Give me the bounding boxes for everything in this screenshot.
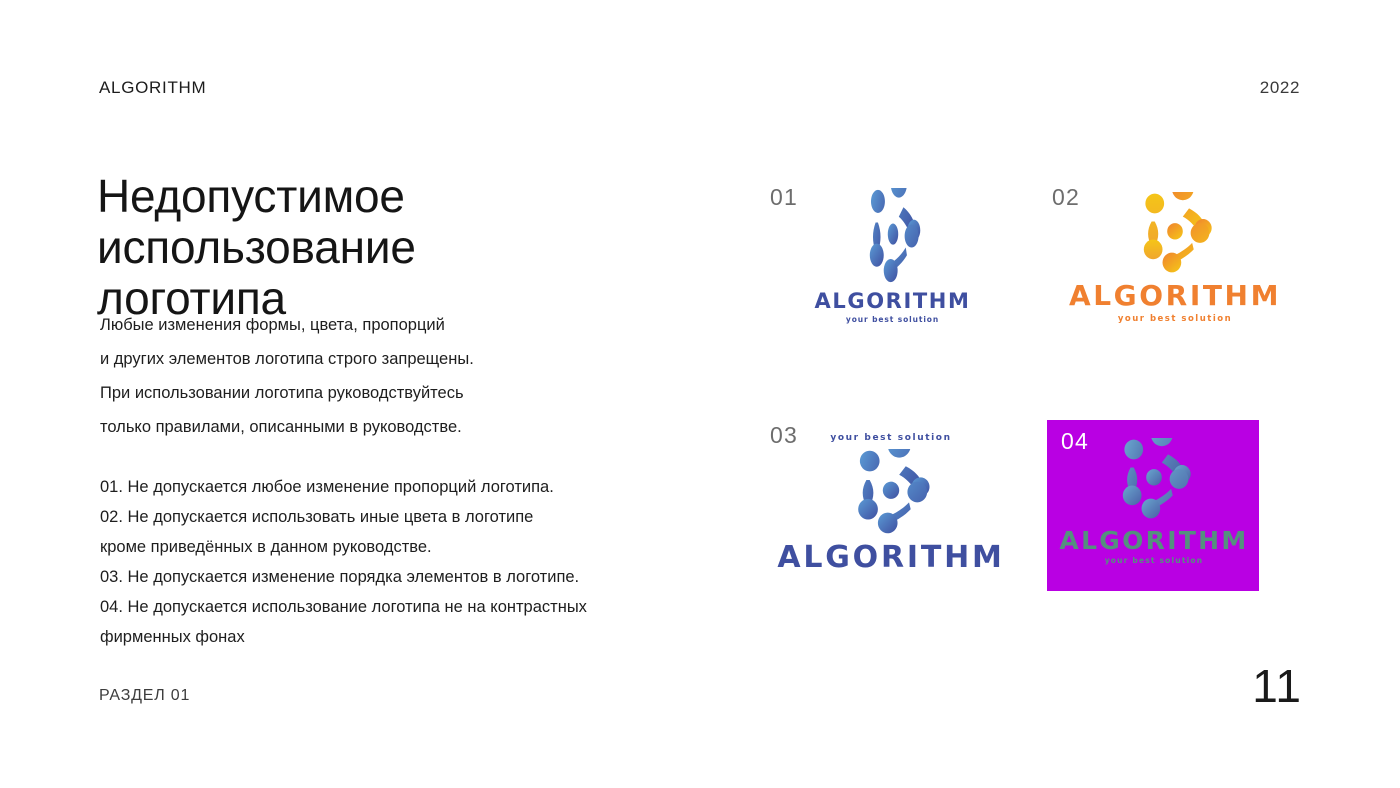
brand-wordmark-header: ALGORITHM (99, 78, 206, 98)
logo-tagline-01: your best solution (846, 316, 939, 324)
specimen-index-01: 01 (770, 184, 798, 211)
logo-lockup-01: ALGORITHM your best solution (815, 188, 970, 324)
specimen-03: 03 your best solution (765, 416, 1015, 616)
specimen-index-03: 03 (770, 422, 798, 449)
logo-lockup-04: ALGORITHM your best solution (1069, 438, 1239, 565)
page-title: Недопустимое использование логотипа (97, 171, 717, 325)
specimen-01: 01 (765, 178, 1015, 378)
logo-specimen-grid: 01 (765, 178, 1305, 608)
logo-wordmark-03: ALGORITHM (777, 543, 1004, 573)
rules-list: 01. Не допускается любое изменение пропо… (100, 472, 760, 652)
logo-tagline-02: your best solution (1118, 315, 1232, 324)
specimen-04: 04 (1047, 416, 1297, 616)
logo-lockup-03: your best solution (785, 434, 997, 573)
logo-wordmark-04: ALGORITHM (1059, 528, 1248, 553)
logo-wordmark-02: ALGORITHM (1069, 282, 1281, 310)
algorithm-node-mark-icon (850, 449, 932, 535)
slide: ALGORITHM 2022 Недопустимое использовани… (0, 0, 1400, 788)
page-number: 11 (1252, 663, 1302, 709)
logo-lockup-02: ALGORITHM your best solution (1075, 192, 1275, 324)
algorithm-node-mark-icon (864, 188, 922, 284)
specimen-index-04: 04 (1061, 428, 1089, 455)
algorithm-node-mark-icon (1115, 438, 1193, 520)
specimen-02: 02 (1047, 178, 1297, 378)
logo-tagline-04: your best solution (1105, 557, 1204, 565)
logo-tagline-03: your best solution (830, 434, 951, 443)
intro-paragraph: Любые изменения формы, цвета, пропорций … (100, 308, 740, 445)
year-label: 2022 (1260, 78, 1300, 98)
algorithm-node-mark-icon (1136, 192, 1214, 274)
specimen-index-02: 02 (1052, 184, 1080, 211)
logo-wordmark-01: ALGORITHM (815, 291, 971, 312)
section-label: РАЗДЕЛ 01 (99, 687, 190, 705)
